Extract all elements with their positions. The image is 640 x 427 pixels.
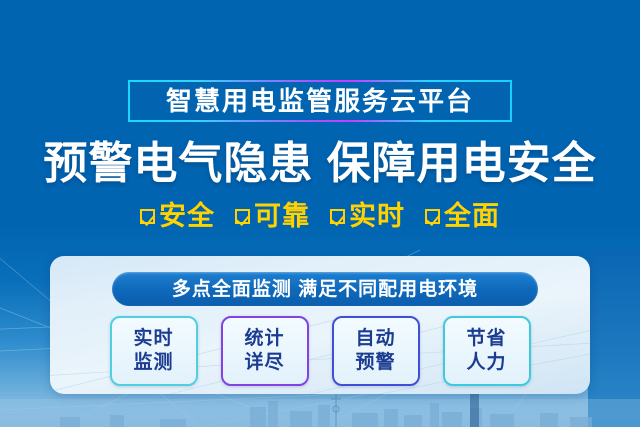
- feature-box-realtime-monitoring[interactable]: 实时 监测: [110, 316, 198, 386]
- poster-canvas: 智慧用电监管服务云平台 预警电气隐患 保障用电安全 安全 可靠 实时 全面: [0, 0, 640, 427]
- checkbox-checked-icon: [235, 209, 250, 224]
- panel-subtitle-pill: 多点全面监测 满足不同配用电环境: [112, 272, 538, 306]
- keyword-label: 实时: [349, 203, 405, 230]
- panel-subtitle-text: 多点全面监测 满足不同配用电环境: [172, 280, 478, 299]
- feature-box-save-manpower[interactable]: 节省 人力: [443, 316, 531, 386]
- feature-line-1: 节省: [466, 327, 506, 351]
- feature-line-2: 预警: [355, 351, 395, 375]
- feature-line-2: 监测: [133, 351, 173, 375]
- keyword-item: 全面: [425, 203, 500, 230]
- keyword-item: 可靠: [235, 203, 310, 230]
- feature-box-list: 实时 监测 统计 详尽 自动 预警 节省 人力: [50, 316, 590, 390]
- feature-panel: 多点全面监测 满足不同配用电环境 实时 监测 统计 详尽 自动 预警 节省 人力: [50, 256, 590, 394]
- feature-line-2: 详尽: [244, 351, 284, 375]
- keyword-label: 安全: [159, 203, 215, 230]
- keyword-label: 可靠: [254, 203, 310, 230]
- checkbox-checked-icon: [140, 209, 155, 224]
- platform-title-box: 智慧用电监管服务云平台: [128, 80, 512, 122]
- feature-line-1: 实时: [133, 327, 173, 351]
- feature-box-automatic-alarm[interactable]: 自动 预警: [332, 316, 420, 386]
- keyword-item: 安全: [140, 203, 215, 230]
- platform-title-text: 智慧用电监管服务云平台: [166, 88, 474, 114]
- right-blue-strip: [588, 250, 640, 427]
- main-headline: 预警电气隐患 保障用电安全: [0, 136, 640, 192]
- feature-line-1: 自动: [355, 327, 395, 351]
- keyword-label: 全面: [444, 203, 500, 230]
- checkbox-checked-icon: [425, 209, 440, 224]
- feature-line-2: 人力: [466, 351, 506, 375]
- feature-box-detailed-statistics[interactable]: 统计 详尽: [221, 316, 309, 386]
- keyword-item: 实时: [330, 203, 405, 230]
- feature-line-1: 统计: [244, 327, 284, 351]
- checkbox-checked-icon: [330, 209, 345, 224]
- keyword-list: 安全 可靠 实时 全面: [0, 199, 640, 233]
